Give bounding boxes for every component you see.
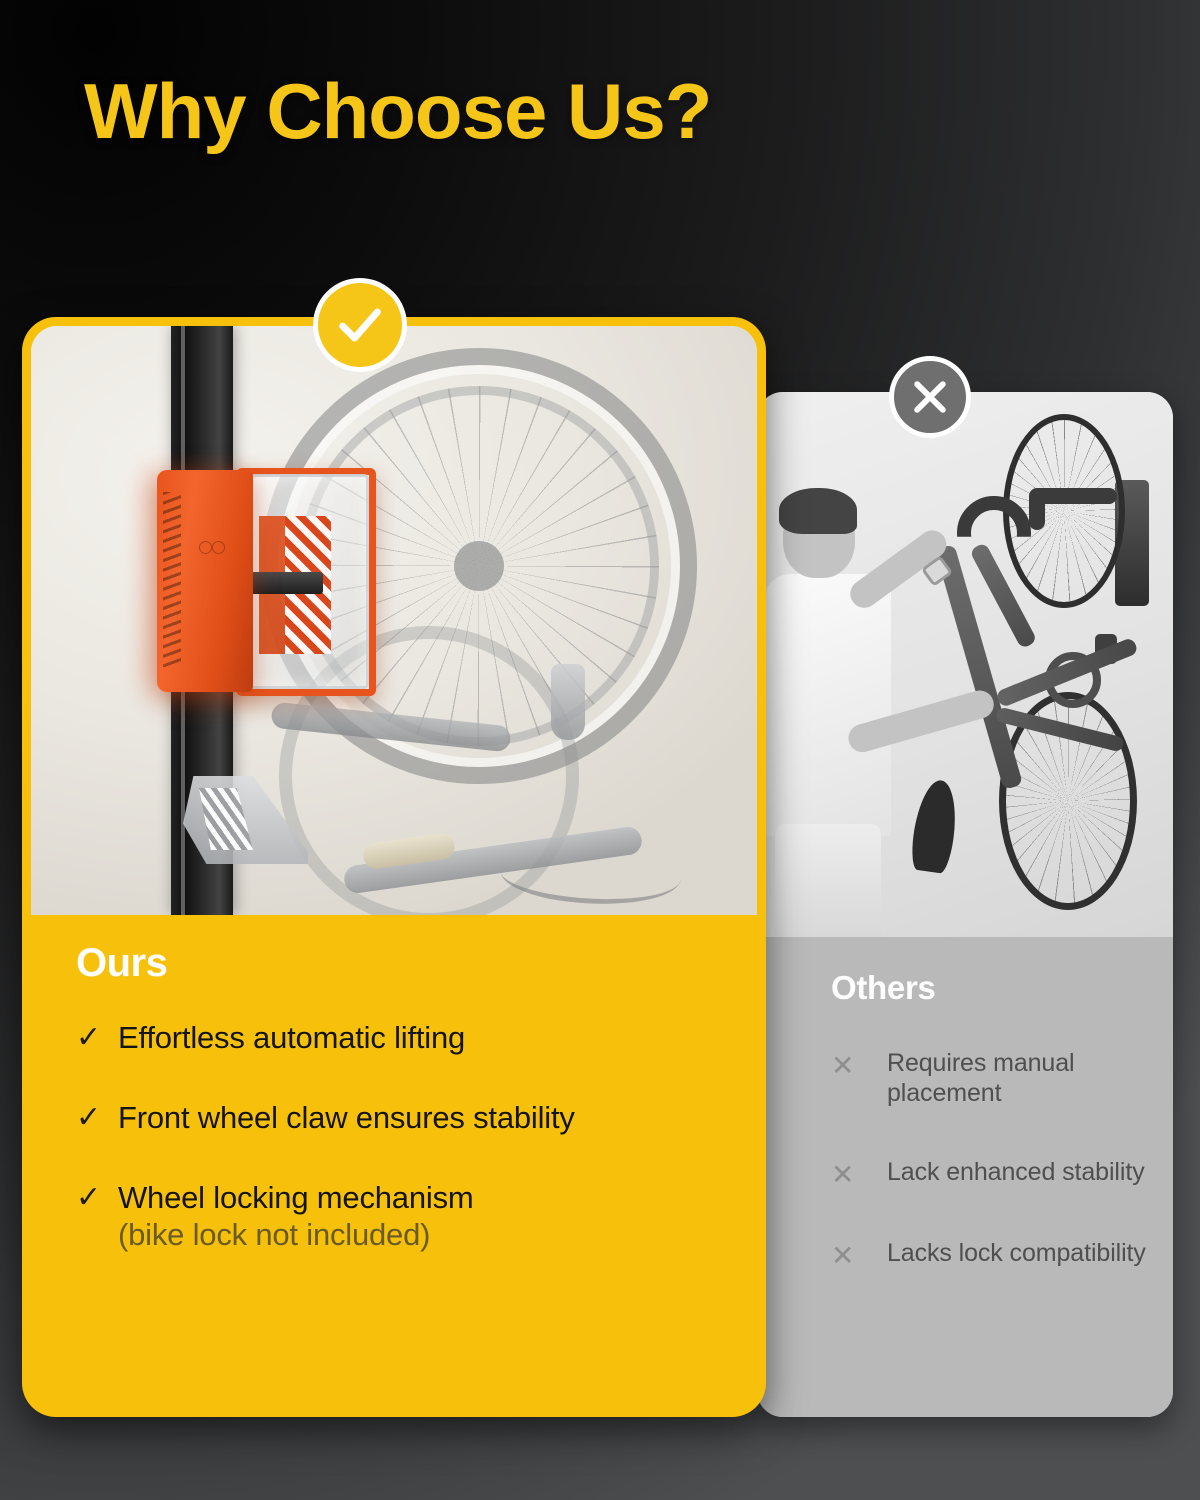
ours-card: Ours ✓ Effortless automatic lifting ✓ Fr… <box>22 317 766 1417</box>
list-item: ✓ Effortless automatic lifting <box>76 1019 736 1057</box>
why-choose-us-comparison-graphic: Why Choose Us? <box>0 0 1200 1500</box>
person-hair <box>779 488 857 534</box>
others-card: Others ✕ Requires manual placement ✕ Lac… <box>757 392 1173 1417</box>
bike-frame-seat-tube <box>935 544 1023 790</box>
list-item: ✕ Lacks lock compatibility <box>831 1239 1151 1270</box>
person-torso <box>763 574 891 836</box>
others-drawback-list: ✕ Requires manual placement ✕ Lack enhan… <box>831 1049 1151 1320</box>
bike-front-spokes <box>1009 420 1119 602</box>
lift-clamp <box>245 572 323 594</box>
others-heading: Others <box>831 969 936 1007</box>
bike-saddle <box>909 778 961 875</box>
page-title: Why Choose Us? <box>84 72 711 150</box>
list-item: ✓ Wheel locking mechanism (bike lock not… <box>76 1179 736 1255</box>
bicycle-logo-icon <box>199 532 225 554</box>
ours-heading: Ours <box>76 941 167 986</box>
x-icon: ✕ <box>831 1161 887 1189</box>
others-product-photo <box>757 392 1173 937</box>
check-icon: ✓ <box>76 1183 118 1213</box>
check-icon: ✓ <box>76 1103 118 1133</box>
ours-item-text: Effortless automatic lifting <box>118 1019 465 1057</box>
list-item: ✕ Lack enhanced stability <box>831 1158 1151 1189</box>
brake-lever <box>551 664 585 740</box>
x-icon: ✕ <box>831 1242 887 1270</box>
others-item-text: Lacks lock compatibility <box>887 1239 1146 1269</box>
x-icon: ✕ <box>831 1052 887 1080</box>
others-item-text: Requires manual placement <box>887 1049 1151 1108</box>
ours-product-photo <box>31 326 757 915</box>
ours-feature-list: ✓ Effortless automatic lifting ✓ Front w… <box>76 1019 736 1296</box>
ours-item-subnote: (bike lock not included) <box>118 1216 474 1254</box>
list-item: ✕ Requires manual placement <box>831 1049 1151 1108</box>
check-circle-icon <box>313 278 407 372</box>
ours-item-text: Wheel locking mechanism (bike lock not i… <box>118 1179 474 1255</box>
bike-hub <box>454 541 504 591</box>
ours-item-main: Wheel locking mechanism <box>118 1180 474 1215</box>
person-legs <box>775 824 881 937</box>
list-item: ✓ Front wheel claw ensures stability <box>76 1099 736 1137</box>
orange-lift-device <box>157 470 253 692</box>
ours-text-panel: Ours ✓ Effortless automatic lifting ✓ Fr… <box>31 915 757 1408</box>
others-text-panel: Others ✕ Requires manual placement ✕ Lac… <box>757 937 1173 1417</box>
ours-item-text: Front wheel claw ensures stability <box>118 1099 575 1137</box>
check-icon: ✓ <box>76 1023 118 1053</box>
x-circle-icon <box>889 356 971 438</box>
device-vent-slots <box>163 492 181 667</box>
others-item-text: Lack enhanced stability <box>887 1158 1145 1188</box>
